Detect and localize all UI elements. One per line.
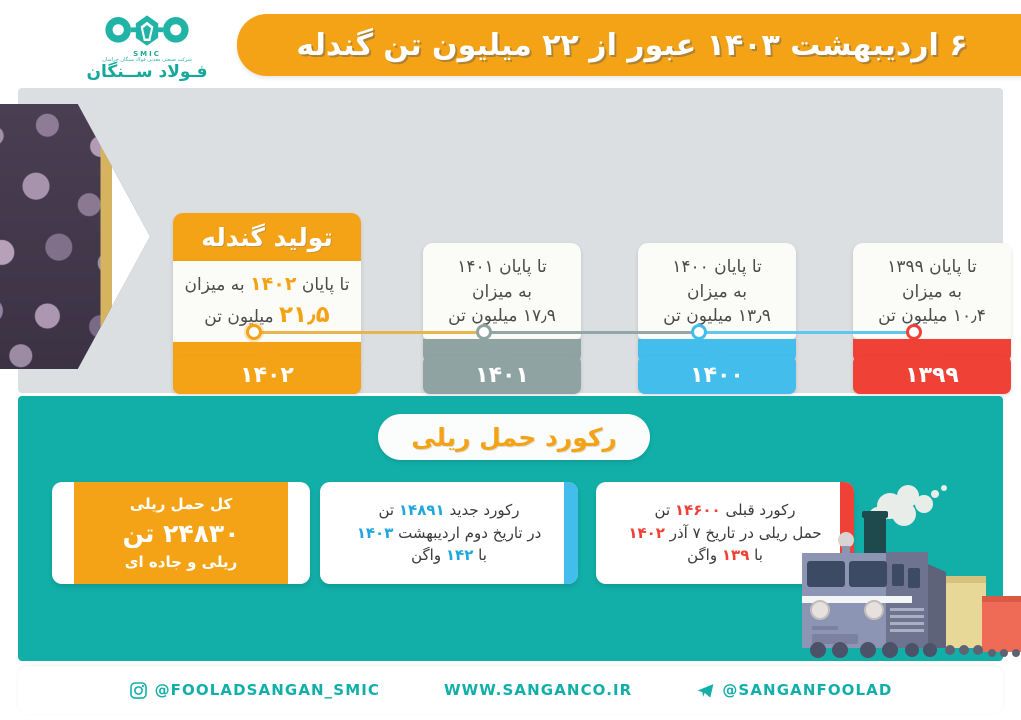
rail-prev-record-line3-a: با bbox=[754, 546, 763, 564]
card-1402-line-1: تا پایان ۱۴۰۲ به میزان bbox=[181, 271, 353, 299]
production-card-header: تولید گندله bbox=[173, 213, 361, 261]
rail-section-title: رکورد حمل ریلی bbox=[378, 414, 650, 460]
infographic-page: SMIC شرکت صنعتی معدنی فولاد سنگان خراسان… bbox=[0, 0, 1021, 720]
timeline-chip-1402: ۱۴۰۲ bbox=[173, 356, 361, 394]
production-section: تولید گندله تا پایان ۱۴۰۲ به میزان ۲۱٫۵ … bbox=[18, 88, 1003, 393]
timeline-segment-1402-1401 bbox=[253, 331, 483, 334]
smic-hexagon-logo-icon bbox=[99, 13, 195, 53]
card-1400-line-2: به میزان bbox=[648, 280, 786, 305]
card-1402-prefix: تا پایان bbox=[302, 275, 350, 295]
rail-new-record-tonnage: ۱۴۸۹۱ bbox=[399, 501, 445, 519]
rail-new-record-line3-a: با bbox=[478, 546, 487, 564]
rail-prev-record-line3-c: واگن bbox=[687, 546, 717, 564]
timeline-segment-1401-1400 bbox=[483, 331, 698, 334]
rail-total-line-2: ۲۴۸۳۰ تن bbox=[123, 519, 240, 548]
rail-new-record-line-1: رکورد جدید ۱۴۸۹۱ تن bbox=[379, 499, 520, 522]
rail-section-title-label: رکورد حمل ریلی bbox=[411, 423, 617, 452]
footer-telegram[interactable]: @SANGANFOOLAD bbox=[696, 681, 892, 700]
footer-website[interactable]: WWW.SANGANCO.IR bbox=[444, 681, 632, 699]
timeline-chip-1402-label: ۱۴۰۲ bbox=[240, 363, 294, 388]
rail-new-record-wagons: ۱۴۲ bbox=[446, 546, 473, 564]
rail-new-record-line2-a: در تاریخ دوم اردیبهشت bbox=[398, 524, 541, 542]
rail-total-card: کل حمل ریلی ۲۴۸۳۰ تن ریلی و جاده ای bbox=[52, 482, 310, 584]
cargo-wagons bbox=[940, 576, 1021, 657]
timeline-dot-1400 bbox=[691, 324, 707, 340]
card-1399-line-1: تا پایان ۱۳۹۹ bbox=[863, 255, 1001, 280]
production-card-header-label: تولید گندله bbox=[201, 223, 333, 252]
footer-instagram[interactable]: @FOOLADSANGAN_SMIC bbox=[129, 681, 380, 700]
header-bar: SMIC شرکت صنعتی معدنی فولاد سنگان خراسان… bbox=[0, 0, 1021, 92]
rail-prev-record-line1-c: تن bbox=[655, 501, 671, 519]
telegram-icon bbox=[696, 681, 715, 700]
company-logo: SMIC شرکت صنعتی معدنی فولاد سنگان خراسان… bbox=[72, 8, 222, 86]
rail-new-record-line-3: با ۱۴۲ واگن bbox=[411, 544, 487, 567]
timeline-dot-1399 bbox=[906, 324, 922, 340]
page-title: ۶ اردیبهشت ۱۴۰۳ عبور از ۲۲ میلیون تن گند… bbox=[237, 14, 1021, 76]
timeline-chip-1399: ۱۳۹۹ bbox=[853, 356, 1011, 394]
rail-total-line-1: کل حمل ریلی bbox=[130, 493, 232, 516]
card-1399-line-2: به میزان bbox=[863, 280, 1001, 305]
logo-subtitle: شرکت صنعتی معدنی فولاد سنگان خراسان bbox=[102, 57, 192, 63]
rail-previous-record-line-3: با ۱۳۹ واگن bbox=[687, 544, 763, 567]
logo-name: فـولاد ســنگان bbox=[87, 64, 208, 81]
freight-train-illustration bbox=[782, 468, 1021, 663]
card-1400-line-1: تا پایان ۱۴۰۰ bbox=[648, 255, 786, 280]
footer-bar: @SANGANFOOLAD WWW.SANGANCO.IR @FOOLADSAN… bbox=[18, 666, 1003, 714]
rail-new-record-line-2: در تاریخ دوم اردیبهشت ۱۴۰۳ bbox=[357, 522, 542, 545]
footer-website-url: WWW.SANGANCO.IR bbox=[444, 681, 632, 699]
rail-previous-record-line-1: رکورد قبلی ۱۴۶۰۰ تن bbox=[655, 499, 796, 522]
card-1401-line-2: به میزان bbox=[433, 280, 571, 305]
timeline-dot-1402 bbox=[246, 324, 262, 340]
page-title-text: ۶ اردیبهشت ۱۴۰۳ عبور از ۲۲ میلیون تن گند… bbox=[296, 28, 967, 63]
rail-prev-record-year: ۱۴۰۲ bbox=[628, 524, 665, 542]
card-1402-year: ۱۴۰۲ bbox=[250, 273, 296, 295]
timeline-chip-1400-label: ۱۴۰۰ bbox=[690, 363, 744, 388]
card-1402-suffix: به میزان bbox=[185, 275, 245, 295]
rail-new-record-line1-a: رکورد جدید bbox=[449, 501, 519, 519]
rail-new-record-line3-c: واگن bbox=[411, 546, 441, 564]
timeline-segment-1400-1399 bbox=[698, 331, 913, 334]
locomotive bbox=[802, 511, 946, 658]
card-1401-line-1: تا پایان ۱۴۰۱ bbox=[433, 255, 571, 280]
timeline-rail bbox=[18, 320, 1003, 346]
timeline-chip-1399-label: ۱۳۹۹ bbox=[905, 363, 959, 388]
rail-new-record-card: رکورد جدید ۱۴۸۹۱ تن در تاریخ دوم اردیبهش… bbox=[320, 482, 578, 584]
rail-new-record-year: ۱۴۰۳ bbox=[357, 524, 394, 542]
rail-prev-record-wagons: ۱۳۹ bbox=[722, 546, 749, 564]
footer-instagram-handle: @FOOLADSANGAN_SMIC bbox=[155, 681, 380, 699]
instagram-icon bbox=[129, 681, 148, 700]
rail-new-record-content: رکورد جدید ۱۴۸۹۱ تن در تاریخ دوم اردیبهش… bbox=[320, 482, 578, 584]
timeline-chip-1401-label: ۱۴۰۱ bbox=[475, 363, 529, 388]
rail-total-line-3: ریلی و جاده ای bbox=[125, 551, 237, 574]
rail-prev-record-tonnage: ۱۴۶۰۰ bbox=[675, 501, 721, 519]
timeline-chip-1401: ۱۴۰۱ bbox=[423, 356, 581, 394]
rail-total-card-content: کل حمل ریلی ۲۴۸۳۰ تن ریلی و جاده ای bbox=[52, 482, 310, 584]
rail-new-record-line1-c: تن bbox=[379, 501, 395, 519]
footer-telegram-handle: @SANGANFOOLAD bbox=[722, 681, 892, 699]
timeline-dot-1401 bbox=[476, 324, 492, 340]
timeline-chip-1400: ۱۴۰۰ bbox=[638, 356, 796, 394]
